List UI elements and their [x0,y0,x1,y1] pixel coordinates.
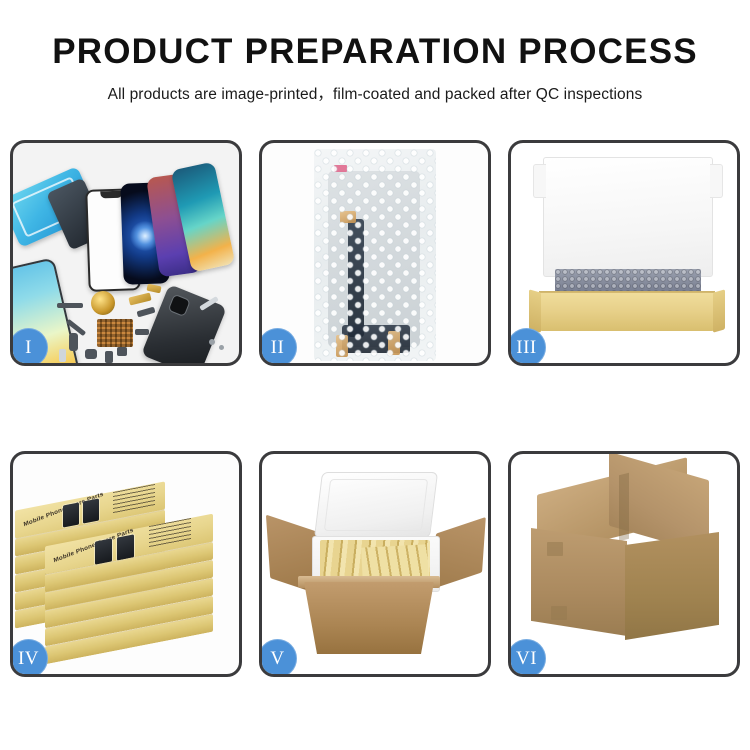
small-part-5 [105,351,113,363]
connector-board-graphic [97,319,133,347]
step-badge-6: VI [508,639,546,677]
carton-left-face [531,528,627,636]
white-box-lid-graphic [543,157,713,277]
step-panel-4: Mobile Phone Spare Parts Mobile Phone Sp… [10,451,242,677]
gold-connector-1 [128,292,151,305]
kraft-tray-graphic [539,293,715,331]
steps-grid: I II [10,140,740,685]
box-art-screen-1 [63,502,79,527]
screw-1 [209,339,215,345]
bubble-bag-graphic [314,149,436,361]
step-panel-5: V [259,451,491,677]
step-6-image [511,454,737,674]
step-3-image [511,143,737,363]
page-subtitle: All products are image-printed，film-coat… [0,82,750,104]
step-2-image [262,143,488,363]
step-panel-6: VI [508,451,740,677]
bubble-texture [314,149,436,361]
carton-tape-lower [551,606,567,620]
carton-right-face [625,532,719,640]
step-panel-1: I [10,140,242,366]
small-part-9 [135,329,149,335]
box-art-screen-2 [83,498,99,523]
carton-top-seam [619,473,629,541]
carton-flap-right [432,517,486,589]
step-badge-4: IV [10,639,48,677]
step-1-image [13,143,239,363]
small-part-6 [117,347,127,356]
small-part-8 [137,307,156,318]
product-preparation-infographic: PRODUCT PREPARATION PROCESS All products… [0,0,750,750]
step-badge-1: I [10,328,48,366]
carton-front-panel [304,582,434,654]
screw-2 [219,345,224,350]
header: PRODUCT PREPARATION PROCESS All products… [0,0,750,104]
step-badge-5: V [259,639,297,677]
small-part-4 [85,349,97,359]
step-badge-3: III [508,328,546,366]
step-badge-2: II [259,328,297,366]
step-5-image [262,454,488,674]
camera-module-graphic [91,291,115,315]
step-4-image: Mobile Phone Spare Parts Mobile Phone Sp… [13,454,239,674]
small-part-7 [59,349,66,362]
small-part-2 [69,333,78,351]
step-panel-3: III [508,140,740,366]
carton-tape-upper [547,542,563,556]
page-title: PRODUCT PREPARATION PROCESS [0,34,750,69]
small-part-1 [57,303,83,308]
foam-cooler-lid-graphic [314,472,438,538]
step-panel-2: II [259,140,491,366]
